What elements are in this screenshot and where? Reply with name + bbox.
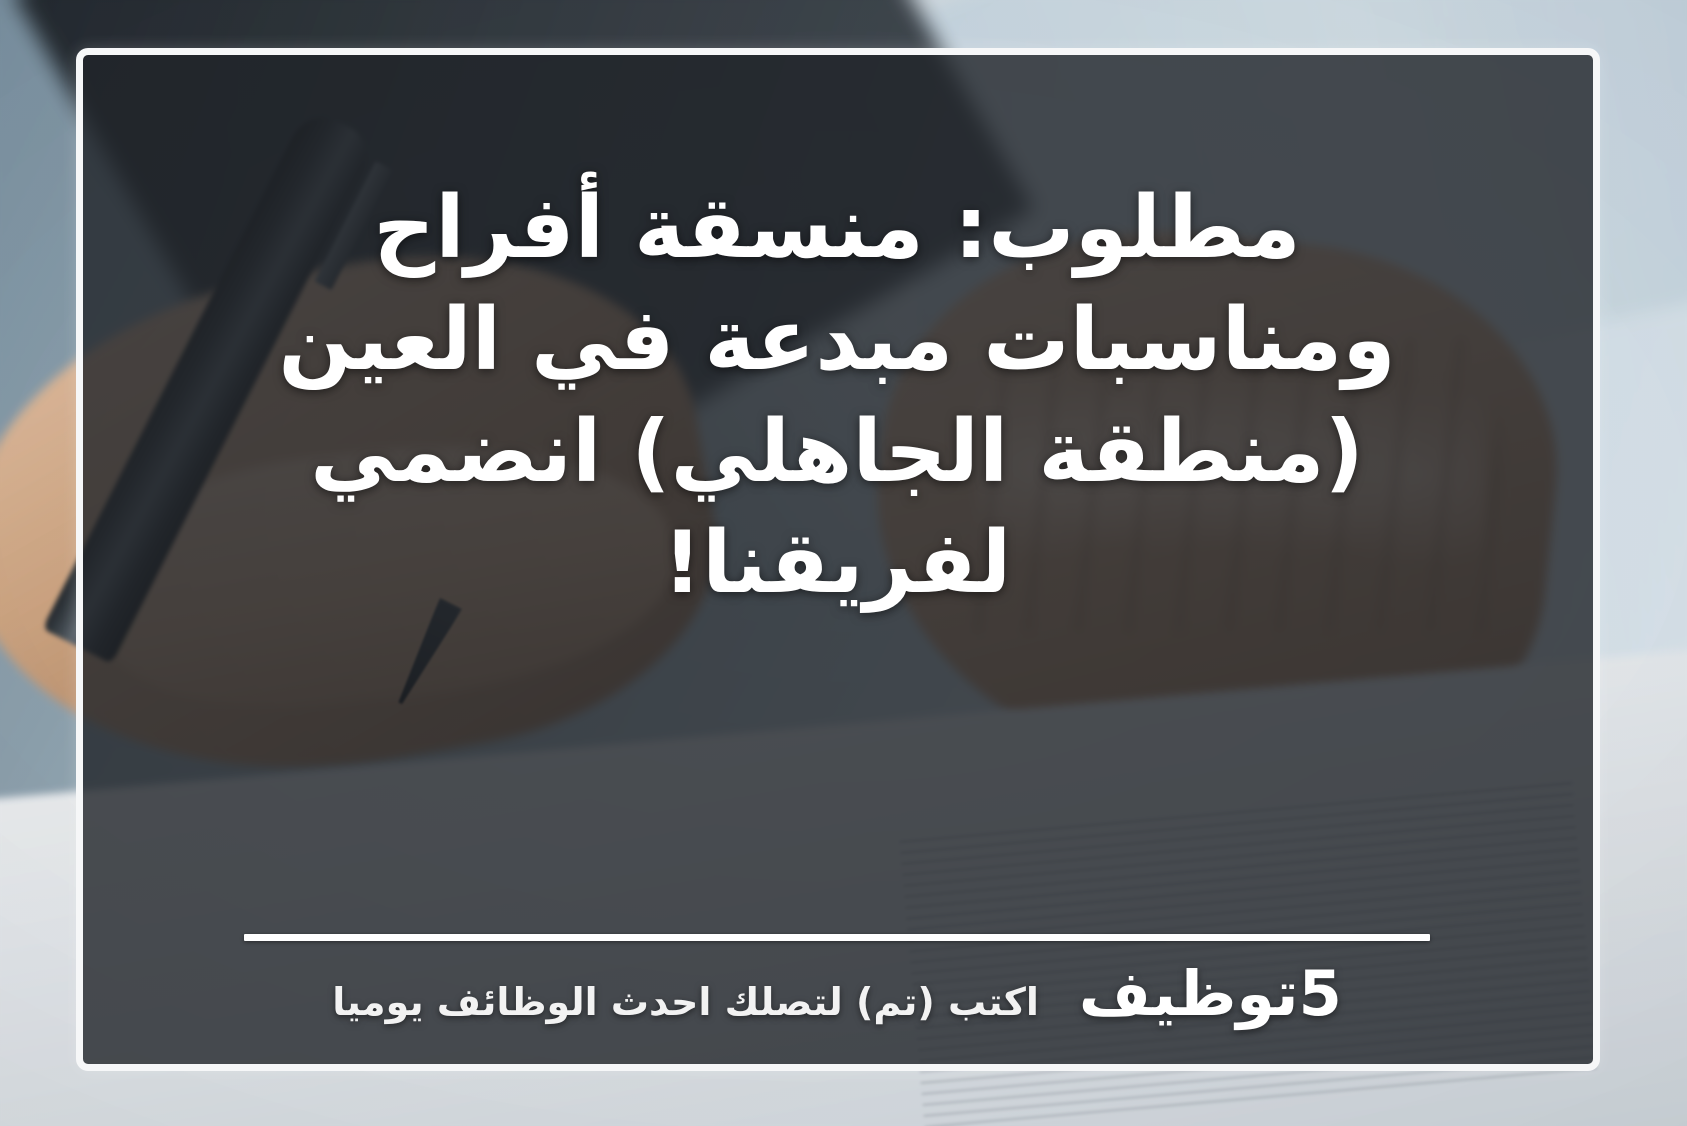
page-title: مطلوب: منسقة أفراح ومناسبات مبدعة في الع… xyxy=(83,55,1591,620)
brand-name: 5توظيف xyxy=(1079,963,1342,1025)
card-content: مطلوب: منسقة أفراح ومناسبات مبدعة في الع… xyxy=(83,55,1591,1063)
card-footer: 5توظيف اكتب (تم) لتصلك احدث الوظائف يومي… xyxy=(83,934,1591,1025)
footer-tagline: اكتب (تم) لتصلك احدث الوظائف يوميا xyxy=(332,983,1039,1021)
footer-divider xyxy=(244,934,1430,941)
job-ad-card: مطلوب: منسقة أفراح ومناسبات مبدعة في الع… xyxy=(0,0,1687,1126)
footer-row: 5توظيف اكتب (تم) لتصلك احدث الوظائف يومي… xyxy=(83,963,1591,1025)
